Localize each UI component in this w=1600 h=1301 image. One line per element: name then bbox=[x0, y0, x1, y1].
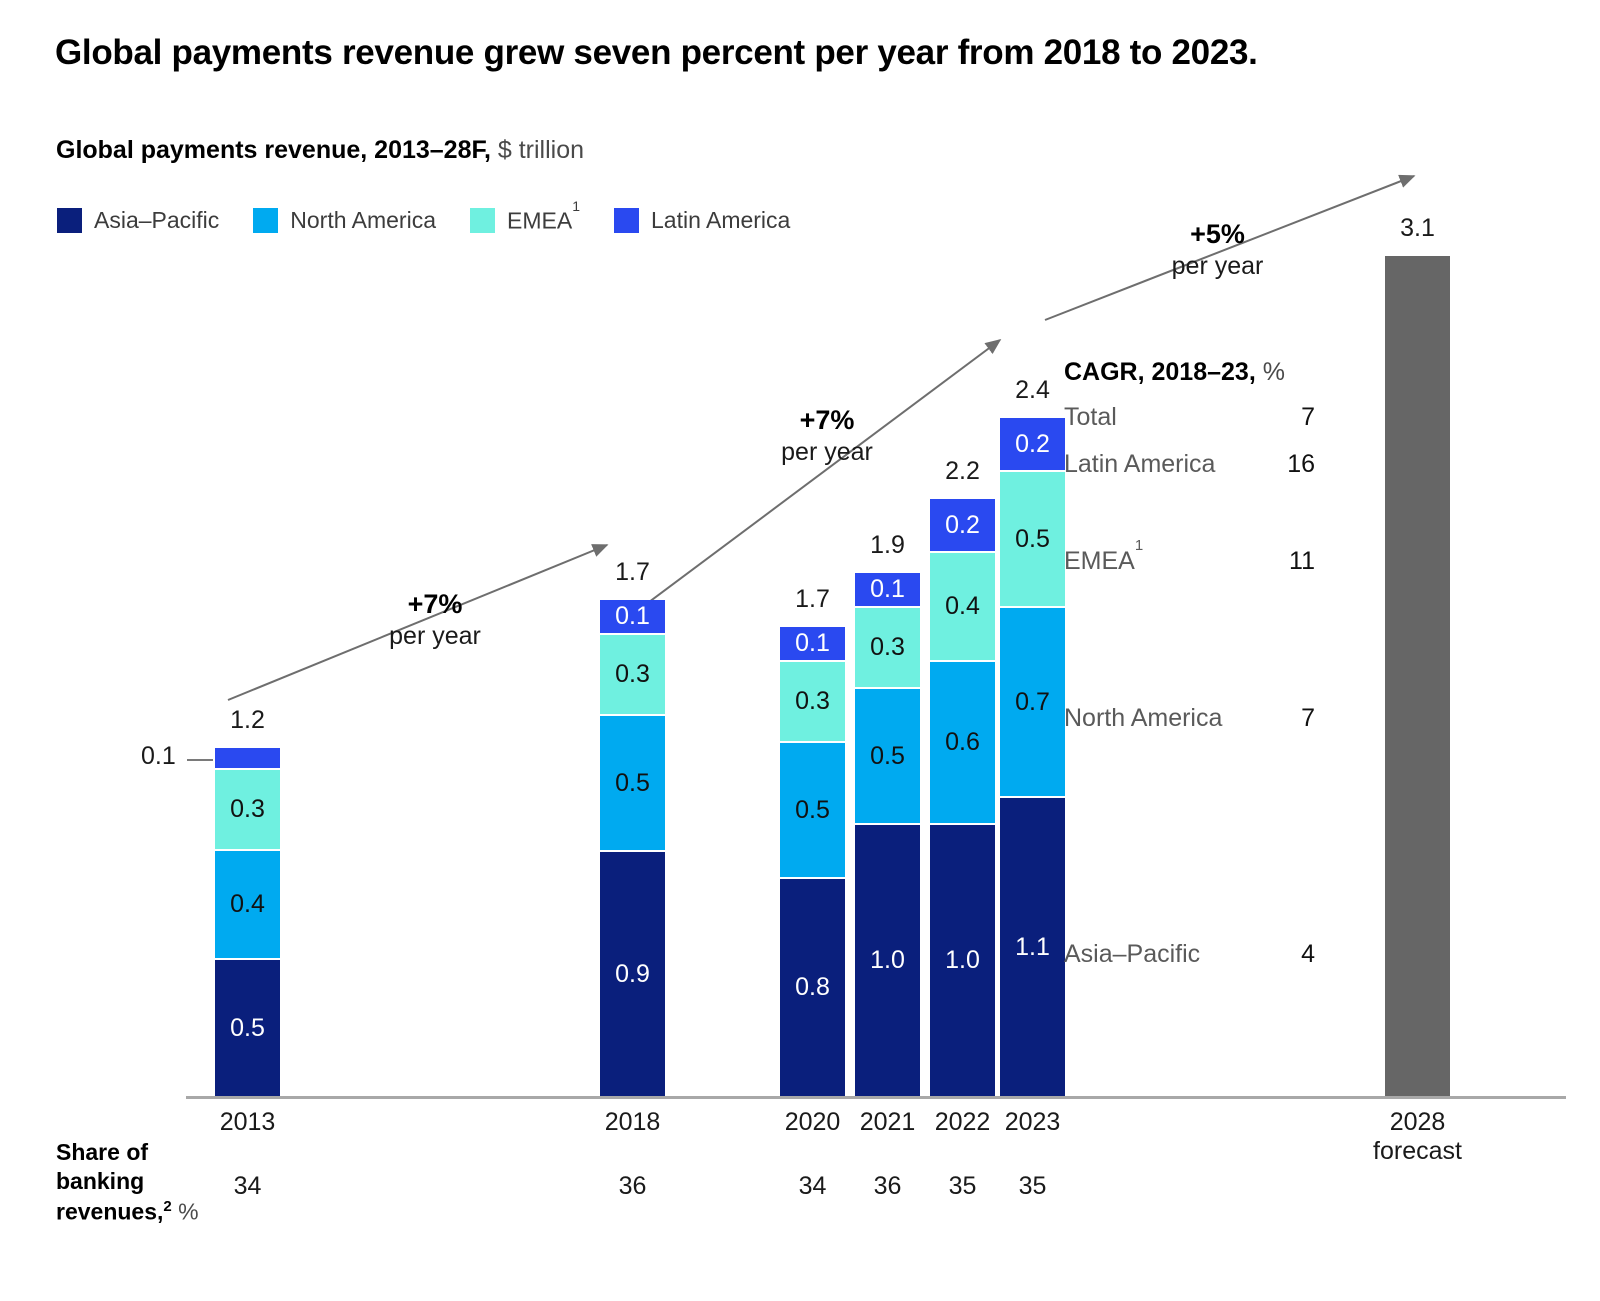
legend-swatch-latin_america-icon bbox=[614, 208, 639, 233]
bar-segment-2022-emea[interactable]: 0.4 bbox=[930, 553, 995, 662]
bar-segment-2018-latin_america[interactable]: 0.1 bbox=[600, 600, 665, 635]
cagr-row-north-america: North America7 bbox=[1064, 704, 1314, 733]
bar-segment-2021-latin_america[interactable]: 0.1 bbox=[855, 573, 920, 608]
x-axis-tick-label-2018: 2018 bbox=[605, 1108, 661, 1136]
bar-segment-label-2020-north_america: 0.5 bbox=[795, 798, 830, 823]
cagr-row-emea: EMEA111 bbox=[1064, 547, 1314, 576]
bar-segment-2020-emea[interactable]: 0.3 bbox=[780, 662, 845, 743]
bar-2013[interactable]: 1.20.30.40.5 bbox=[215, 748, 280, 1096]
legend-item-asia_pacific: Asia–Pacific bbox=[57, 207, 219, 234]
bar-segment-label-2018-latin_america: 0.1 bbox=[615, 604, 650, 629]
bar-total-label-2028: 3.1 bbox=[1385, 214, 1450, 243]
bar-segment-2020-north_america[interactable]: 0.5 bbox=[780, 743, 845, 879]
bar-segment-label-2022-asia_pacific: 1.0 bbox=[945, 948, 980, 973]
bar-2020[interactable]: 1.70.10.30.50.8 bbox=[780, 627, 845, 1096]
bar-segment-label-2018-emea: 0.3 bbox=[615, 662, 650, 687]
x-axis-tick-2018: 2018 bbox=[570, 1108, 695, 1137]
chart-legend: Asia–PacificNorth AmericaEMEA1Latin Amer… bbox=[57, 207, 824, 235]
bar-segment-label-2022-emea: 0.4 bbox=[945, 594, 980, 619]
growth-annotation-3-pct: +5% bbox=[1110, 218, 1325, 251]
chart-subtitle-strong: Global payments revenue, 2013–28F, bbox=[56, 136, 491, 164]
bar-segment-2021-emea[interactable]: 0.3 bbox=[855, 608, 920, 689]
legend-label-north_america: North America bbox=[290, 207, 436, 234]
cagr-row-label-1: Latin America bbox=[1064, 450, 1215, 478]
x-axis-tick-2023: 2023 bbox=[970, 1108, 1095, 1137]
legend-swatch-north_america-icon bbox=[253, 208, 278, 233]
share-value-2013: 34 bbox=[185, 1172, 310, 1201]
chart-subtitle: Global payments revenue, 2013–28F, $ tri… bbox=[56, 136, 584, 165]
growth-annotation-3-per: per year bbox=[1110, 251, 1325, 282]
legend-label-latin_america: Latin America bbox=[651, 207, 790, 234]
cagr-row-label-3: North America bbox=[1064, 704, 1222, 732]
share-value-2018: 36 bbox=[570, 1172, 695, 1201]
leader-line-2013-latin_america bbox=[187, 759, 213, 761]
cagr-row-value-2: 11 bbox=[1279, 547, 1315, 576]
x-axis-line bbox=[186, 1096, 1566, 1099]
bar-segment-label-2023-north_america: 0.7 bbox=[1015, 690, 1050, 715]
bar-segment-2020-asia_pacific[interactable]: 0.8 bbox=[780, 879, 845, 1096]
bar-total-label-2023: 2.4 bbox=[1000, 376, 1065, 405]
cagr-row-latin-america: Latin America16 bbox=[1064, 450, 1314, 479]
legend-label-emea: EMEA1 bbox=[507, 207, 580, 235]
bar-2018[interactable]: 1.70.10.30.50.9 bbox=[600, 600, 665, 1096]
bar-segment-2018-emea[interactable]: 0.3 bbox=[600, 635, 665, 716]
cagr-row-value-4: 4 bbox=[1279, 940, 1315, 969]
cagr-row-label-2: EMEA1 bbox=[1064, 547, 1143, 575]
legend-item-north_america: North America bbox=[253, 207, 436, 234]
bar-segment-2021-asia_pacific[interactable]: 1.0 bbox=[855, 825, 920, 1096]
bar-segment-2023-emea[interactable]: 0.5 bbox=[1000, 472, 1065, 608]
legend-swatch-emea-icon bbox=[470, 208, 495, 233]
cagr-row-footnote-2: 1 bbox=[1135, 537, 1143, 554]
cagr-row-value-1: 16 bbox=[1279, 450, 1315, 479]
bar-segment-2028-forecast[interactable] bbox=[1385, 256, 1450, 1096]
bar-segment-2023-north_america[interactable]: 0.7 bbox=[1000, 608, 1065, 798]
bar-segment-label-2018-asia_pacific: 0.9 bbox=[615, 962, 650, 987]
bar-segment-2021-north_america[interactable]: 0.5 bbox=[855, 689, 920, 825]
x-axis-tick-2013: 2013 bbox=[185, 1108, 310, 1137]
bar-2023[interactable]: 2.40.20.50.71.1 bbox=[1000, 418, 1065, 1096]
bar-total-label-2021: 1.9 bbox=[855, 531, 920, 560]
bar-segment-label-2021-latin_america: 0.1 bbox=[870, 577, 905, 602]
bar-total-label-2020: 1.7 bbox=[780, 585, 845, 614]
cagr-row-total: Total7 bbox=[1064, 403, 1314, 432]
legend-footnote-emea: 1 bbox=[572, 198, 580, 214]
bar-segment-label-2020-emea: 0.3 bbox=[795, 689, 830, 714]
bar-segment-label-2013-north_america: 0.4 bbox=[230, 892, 265, 917]
page-title: Global payments revenue grew seven perce… bbox=[55, 33, 1258, 73]
bar-segment-label-2023-asia_pacific: 1.1 bbox=[1015, 935, 1050, 960]
bar-segment-2022-asia_pacific[interactable]: 1.0 bbox=[930, 825, 995, 1096]
bar-total-label-2018: 1.7 bbox=[600, 558, 665, 587]
bar-segment-label-2021-north_america: 0.5 bbox=[870, 744, 905, 769]
growth-annotation-1-per: per year bbox=[330, 621, 540, 652]
bar-total-label-2013: 1.2 bbox=[215, 706, 280, 735]
bar-segment-label-2013-asia_pacific: 0.5 bbox=[230, 1016, 265, 1041]
bar-segment-2018-north_america[interactable]: 0.5 bbox=[600, 716, 665, 852]
bar-segment-label-2021-asia_pacific: 1.0 bbox=[870, 948, 905, 973]
growth-annotation-2: +7% per year bbox=[722, 404, 932, 467]
bar-segment-2018-asia_pacific[interactable]: 0.9 bbox=[600, 852, 665, 1096]
legend-item-latin_america: Latin America bbox=[614, 207, 790, 234]
bar-segment-label-2023-emea: 0.5 bbox=[1015, 527, 1050, 552]
share-of-banking-revenues-label: Share of banking revenues,2 % bbox=[56, 1138, 206, 1227]
bar-segment-2020-latin_america[interactable]: 0.1 bbox=[780, 627, 845, 662]
cagr-title-strong: CAGR, 2018–23, bbox=[1064, 358, 1256, 386]
bar-2022[interactable]: 2.20.20.40.61.0 bbox=[930, 499, 995, 1096]
bar-total-label-2022: 2.2 bbox=[930, 457, 995, 486]
bar-segment-label-2021-emea: 0.3 bbox=[870, 635, 905, 660]
cagr-table-title: CAGR, 2018–23, % bbox=[1064, 358, 1285, 387]
x-axis-tick-2028: 2028forecast bbox=[1355, 1108, 1480, 1166]
bar-segment-2022-latin_america[interactable]: 0.2 bbox=[930, 499, 995, 553]
legend-item-emea: EMEA1 bbox=[470, 207, 580, 235]
x-axis-tick-sublabel-2028: forecast bbox=[1355, 1137, 1480, 1166]
share-title-text: Share of banking revenues, bbox=[56, 1139, 163, 1225]
bar-segment-2023-asia_pacific[interactable]: 1.1 bbox=[1000, 798, 1065, 1096]
cagr-row-label-4: Asia–Pacific bbox=[1064, 940, 1200, 968]
bar-segment-label-2020-latin_america: 0.1 bbox=[795, 631, 830, 656]
bar-segment-label-2018-north_america: 0.5 bbox=[615, 771, 650, 796]
x-axis-tick-label-2013: 2013 bbox=[220, 1108, 276, 1136]
legend-label-asia_pacific: Asia–Pacific bbox=[94, 207, 219, 234]
bar-segment-2013-north_america[interactable]: 0.4 bbox=[215, 851, 280, 960]
legend-swatch-asia_pacific-icon bbox=[57, 208, 82, 233]
growth-annotation-1: +7% per year bbox=[330, 588, 540, 651]
share-value-2023: 35 bbox=[970, 1172, 1095, 1201]
cagr-row-label-0: Total bbox=[1064, 403, 1117, 431]
bar-segment-label-2013-latin_america: 0.1 bbox=[141, 742, 176, 771]
growth-annotation-2-per: per year bbox=[722, 437, 932, 468]
growth-annotation-3: +5% per year bbox=[1110, 218, 1325, 281]
cagr-row-value-3: 7 bbox=[1279, 704, 1315, 733]
x-axis-tick-label-2028: 2028 bbox=[1390, 1108, 1446, 1136]
bar-segment-2013-latin_america[interactable] bbox=[215, 748, 280, 770]
cagr-row-value-0: 7 bbox=[1279, 403, 1315, 432]
bar-segment-label-2022-latin_america: 0.2 bbox=[945, 513, 980, 538]
bar-segment-2013-emea[interactable]: 0.3 bbox=[215, 770, 280, 851]
bar-segment-label-2013-emea: 0.3 bbox=[230, 797, 265, 822]
bar-segment-label-2023-latin_america: 0.2 bbox=[1015, 432, 1050, 457]
cagr-row-asia-pacific: Asia–Pacific4 bbox=[1064, 940, 1314, 969]
bar-segment-2013-asia_pacific[interactable]: 0.5 bbox=[215, 960, 280, 1096]
bar-2021[interactable]: 1.90.10.30.51.0 bbox=[855, 573, 920, 1096]
bar-segment-2023-latin_america[interactable]: 0.2 bbox=[1000, 418, 1065, 472]
bar-segment-label-2020-asia_pacific: 0.8 bbox=[795, 975, 830, 1000]
chart-page: Global payments revenue grew seven perce… bbox=[0, 0, 1600, 1301]
share-title-unit: % bbox=[178, 1199, 198, 1225]
bar-segment-2022-north_america[interactable]: 0.6 bbox=[930, 662, 995, 825]
growth-annotation-1-pct: +7% bbox=[330, 588, 540, 621]
share-title-footnote: 2 bbox=[163, 1198, 171, 1215]
bar-segment-label-2022-north_america: 0.6 bbox=[945, 730, 980, 755]
growth-annotation-2-pct: +7% bbox=[722, 404, 932, 437]
bar-2028[interactable]: 3.1 bbox=[1385, 256, 1450, 1096]
chart-subtitle-unit: $ trillion bbox=[491, 136, 584, 164]
x-axis-tick-label-2023: 2023 bbox=[1005, 1108, 1061, 1136]
cagr-title-unit: % bbox=[1256, 358, 1285, 386]
